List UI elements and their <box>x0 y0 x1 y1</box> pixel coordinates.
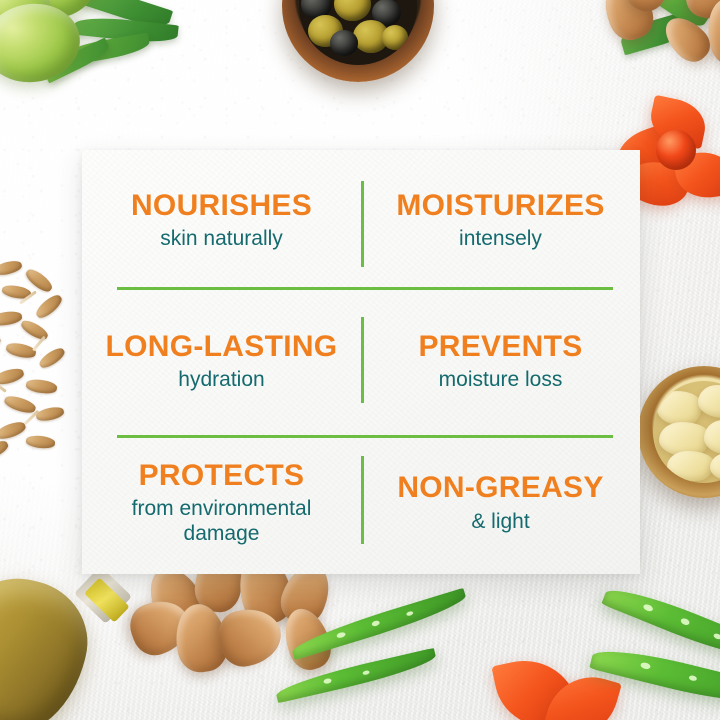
benefit-headline: PROTECTS <box>139 460 305 492</box>
infographic-canvas: NOURISHES skin naturally MOISTURIZES int… <box>0 0 720 720</box>
benefits-card: NOURISHES skin naturally MOISTURIZES int… <box>82 150 640 574</box>
benefit-headline: MOISTURIZES <box>396 190 604 222</box>
benefit-subtext: & light <box>471 510 529 535</box>
vertical-divider-row-1 <box>361 181 364 267</box>
vertical-divider-row-2 <box>361 317 364 403</box>
vertical-divider-row-3 <box>361 456 364 544</box>
benefit-cell-moisturizes: MOISTURIZES intensely <box>361 150 640 291</box>
horizontal-divider-1 <box>117 287 613 290</box>
benefit-subtext: hydration <box>178 368 264 393</box>
benefit-headline: LONG-LASTING <box>106 331 338 363</box>
benefit-subtext: moisture loss <box>439 368 563 393</box>
benefit-cell-nourishes: NOURISHES skin naturally <box>82 150 361 291</box>
benefit-headline: PREVENTS <box>418 331 582 363</box>
benefit-cell-non-greasy: NON-GREASY & light <box>361 433 640 574</box>
benefit-cell-long-lasting: LONG-LASTING hydration <box>82 291 361 432</box>
benefit-subtext: skin naturally <box>160 227 283 252</box>
horizontal-divider-2 <box>117 435 613 438</box>
benefit-headline: NON-GREASY <box>397 472 603 504</box>
benefit-headline: NOURISHES <box>131 190 312 222</box>
benefit-subtext: from environmental damage <box>107 497 337 547</box>
benefit-cell-prevents: PREVENTS moisture loss <box>361 291 640 432</box>
benefit-subtext: intensely <box>459 227 542 252</box>
benefit-cell-protects: PROTECTS from environmental damage <box>82 433 361 574</box>
